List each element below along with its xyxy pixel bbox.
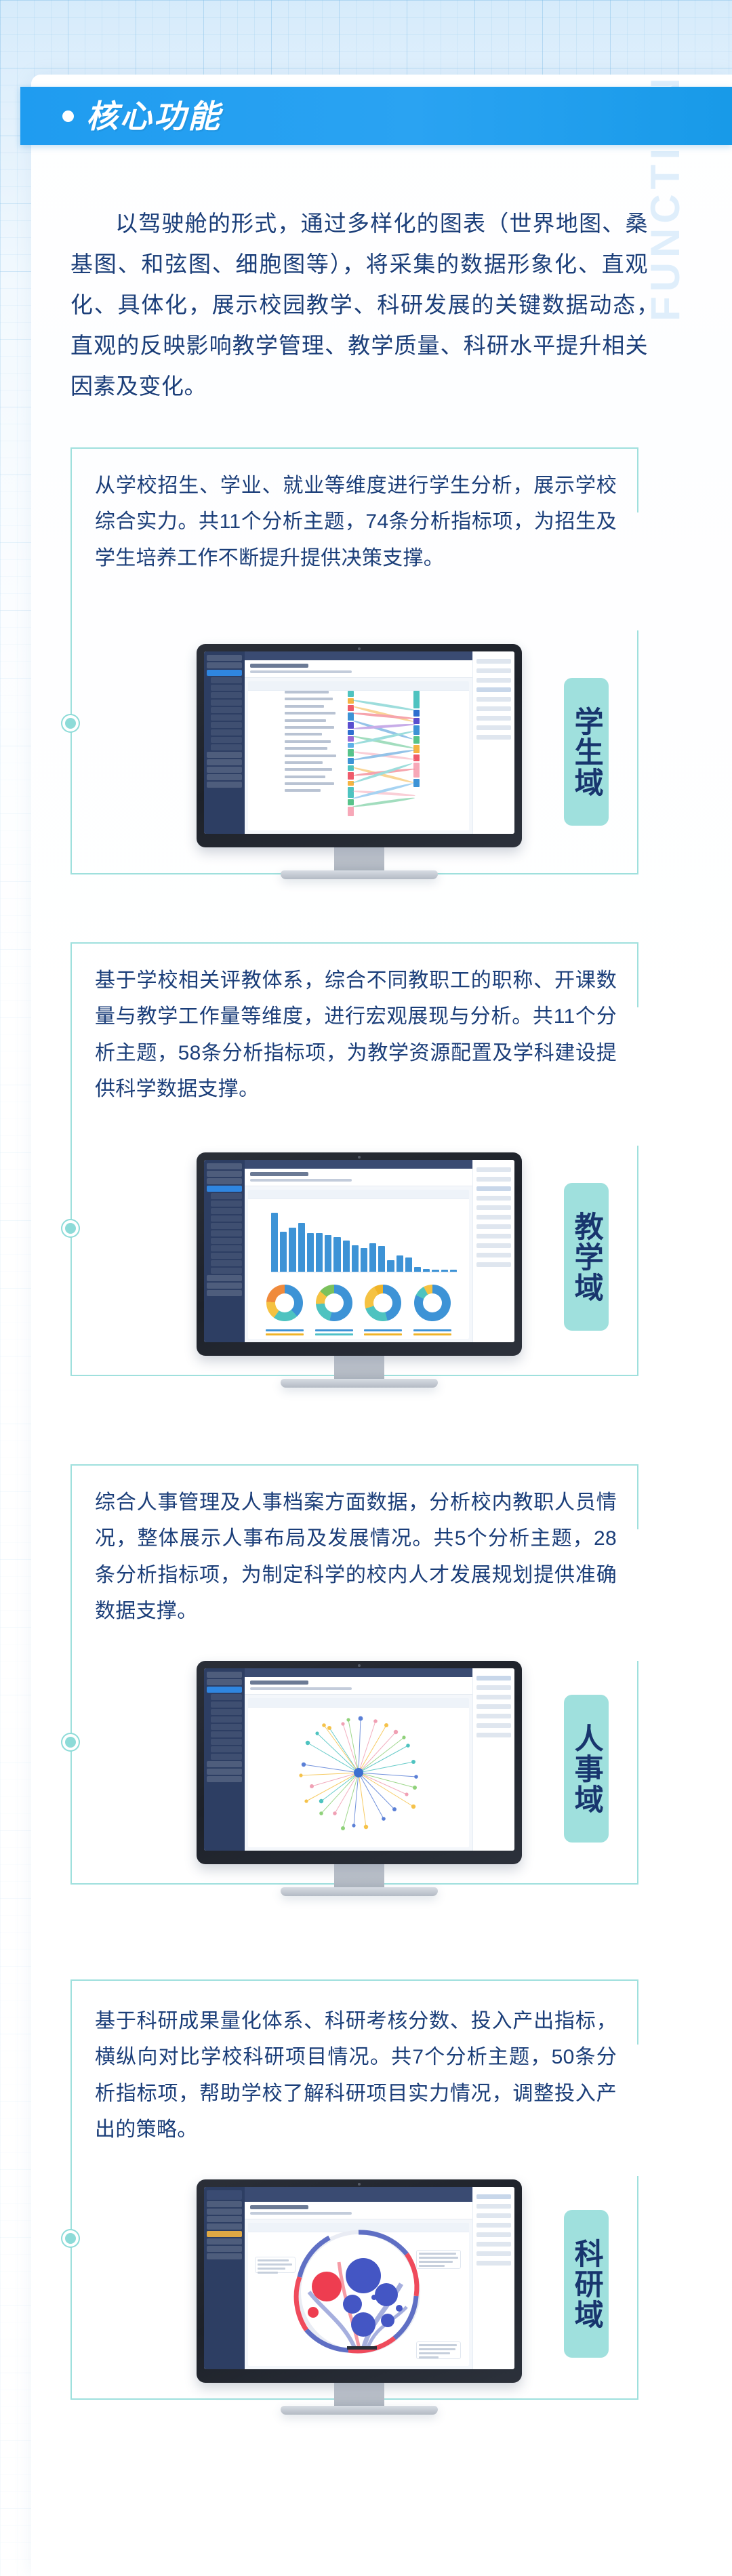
dashboard-breadcrumb: [245, 2202, 472, 2219]
network-graph-card: [248, 1698, 469, 1847]
chord-bubble-chart: [251, 2226, 466, 2363]
monitor-base: [281, 870, 438, 879]
monitor-base: [281, 1379, 438, 1388]
dashboard-sidebar[interactable]: [204, 1160, 245, 1342]
section-text-hr: 综合人事管理及人事档案方面数据，分析校内教职人员情况，整体展示人事布局及发展情况…: [95, 1485, 617, 1630]
section-text-student: 从学校招生、学业、就业等维度进行学生分析，展示学校综合实力。共11个分析主题，7…: [95, 468, 617, 576]
dashboard-breadcrumb: [245, 1169, 472, 1186]
monitor-bezel: [197, 2179, 522, 2383]
monitor-bezel: [197, 1152, 522, 1356]
webcam-icon: [358, 1664, 361, 1667]
chart-callout-bottom: [416, 2341, 461, 2359]
dashboard-topbar: [245, 1160, 472, 1169]
webcam-icon: [358, 1156, 361, 1159]
domain-tag-research: 科研域: [564, 2210, 609, 2358]
dashboard-sidebar[interactable]: [204, 651, 245, 834]
dashboard-sidebar[interactable]: [204, 1668, 245, 1851]
dashboard-sidebar[interactable]: [204, 2187, 245, 2369]
donut-legends: [260, 1329, 457, 1337]
dashboard-right-panel[interactable]: [472, 1668, 514, 1851]
section-bullet-research: [62, 2230, 79, 2247]
sankey-chart-card: [248, 681, 469, 830]
dashboard-right-panel[interactable]: [472, 2187, 514, 2369]
bar-chart: [271, 1207, 457, 1272]
chart-callout-right: [416, 2250, 461, 2269]
monitor-mockup-student: [197, 644, 522, 879]
monitor-bezel: [197, 1661, 522, 1864]
chart-callout-left: [255, 2257, 296, 2273]
dashboard-breadcrumb: [245, 1677, 472, 1695]
section-header-banner: 核心功能: [20, 87, 732, 145]
dashboard-main: [245, 2187, 472, 2369]
section-text-teaching: 基于学校相关评教体系，综合不同教职工的职称、开课数量与教学工作量等维度，进行宏观…: [95, 963, 617, 1108]
monitor-neck: [334, 1356, 384, 1379]
monitor-mockup-hr: [197, 1661, 522, 1896]
monitor-mockup-teaching: [197, 1152, 522, 1388]
dashboard-screen-research[interactable]: [204, 2187, 514, 2369]
monitor-bezel: [197, 644, 522, 847]
intro-paragraph: 以驾驶舱的形式，通过多样化的图表（世界地图、桑基图、和弦图、细胞图等），将采集的…: [70, 203, 648, 407]
dashboard-topbar: [245, 1668, 472, 1677]
donut-chart-row: [260, 1285, 457, 1321]
monitor-neck: [334, 2383, 384, 2406]
dashboard-topbar: [245, 651, 472, 660]
sankey-diagram: [285, 691, 450, 821]
network-graph: [252, 1702, 465, 1843]
dashboard-right-panel[interactable]: [472, 651, 514, 834]
dashboard-screen-student[interactable]: [204, 651, 514, 834]
donut-chart-age: [365, 1285, 401, 1321]
webcam-icon: [358, 647, 361, 650]
dashboard-topbar: [245, 2187, 472, 2202]
monitor-neck: [334, 847, 384, 870]
monitor-neck: [334, 1864, 384, 1887]
monitor-base: [281, 1887, 438, 1896]
network-svg: [281, 1705, 436, 1840]
section-bullet-hr: [62, 1734, 79, 1750]
section-bullet-student: [62, 715, 79, 731]
dashboard-main: [245, 1668, 472, 1851]
dashboard-right-panel[interactable]: [472, 1160, 514, 1342]
domain-tag-teaching: 教学域: [564, 1183, 609, 1331]
dashboard-screen-teaching[interactable]: [204, 1160, 514, 1342]
webcam-icon: [358, 2183, 361, 2186]
monitor-mockup-research: [197, 2179, 522, 2415]
section-text-research: 基于科研成果量化体系、科研考核分数、投入产出指标，横纵向对比学校科研项目情况。共…: [95, 2003, 617, 2148]
donut-chart-title-rank: [266, 1285, 303, 1321]
dashboard-screen-hr[interactable]: [204, 1668, 514, 1851]
donut-chart-education: [316, 1285, 352, 1321]
section-bullet-teaching: [62, 1220, 79, 1236]
donut-chart-academic-origin: [414, 1285, 451, 1321]
monitor-base: [281, 2406, 438, 2415]
bar-and-donut-card: [248, 1190, 469, 1339]
bullet-dot-icon: [62, 110, 74, 122]
page-title: 核心功能: [86, 100, 222, 132]
chord-bubble-card: [248, 2223, 469, 2366]
domain-tag-hr: 人事域: [564, 1695, 609, 1843]
dashboard-breadcrumb: [245, 660, 472, 678]
sankey-flows: [352, 691, 415, 821]
dashboard-main: [245, 1160, 472, 1342]
domain-tag-student: 学生域: [564, 678, 609, 826]
dashboard-main: [245, 651, 472, 834]
